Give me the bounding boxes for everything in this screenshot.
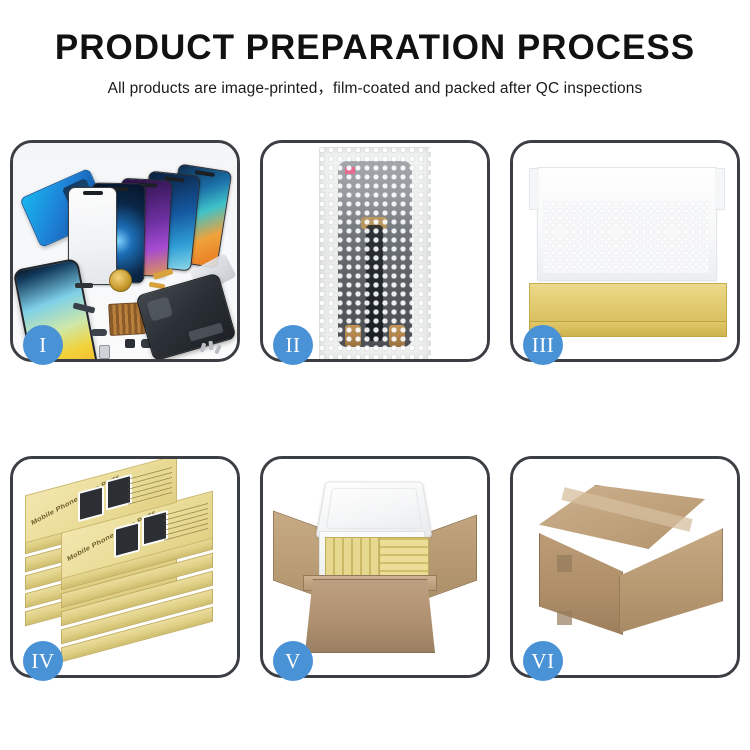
step-badge-6: VI [523,641,563,681]
step-panel-6[interactable]: VI [510,456,740,678]
step-panel-4[interactable]: Mobile Phone Spare Parts Mobile Phone Sp… [10,456,240,678]
component-part [125,339,135,348]
yellow-boxes-stacked [379,537,429,579]
component-part [99,345,110,359]
bubble-texture [319,147,431,359]
step-panel-1[interactable]: I [10,140,240,362]
box-spec-lines [128,463,172,505]
step-badge-4: IV [23,641,63,681]
box-spec-lines [164,499,208,541]
bubble-wrap-bag [319,147,431,359]
screws-graphic [201,341,223,355]
carton-body [305,579,435,653]
foam-sheet [543,201,709,273]
process-step-grid: I II III [0,140,750,685]
step-panel-3[interactable]: III [510,140,740,362]
box-screen-print [114,521,140,558]
page-subtitle: All products are image-printed，film-coat… [0,76,750,98]
yellow-box-tray [529,283,727,325]
step-panel-5[interactable]: V [260,456,490,678]
step-badge-2: II [273,325,313,365]
step-badge-5: V [273,641,313,681]
carton-tab [557,555,572,572]
carton-face-left [539,533,623,635]
foam-lid-open [316,482,433,538]
notch-icon [83,191,103,195]
component-part [91,329,107,336]
step-badge-3: III [523,325,563,365]
box-screen-print [78,485,104,522]
step-badge-1: I [23,325,63,365]
speaker-coil-part [109,269,132,292]
page-header: PRODUCT PREPARATION PROCESS All products… [0,0,750,98]
step-panel-2[interactable]: II [260,140,490,362]
box-stack: Mobile Phone Spare Parts Mobile Phone Sp… [19,473,231,663]
page-title: PRODUCT PREPARATION PROCESS [0,30,750,67]
carton-tab [557,611,572,625]
component-part [75,283,93,288]
